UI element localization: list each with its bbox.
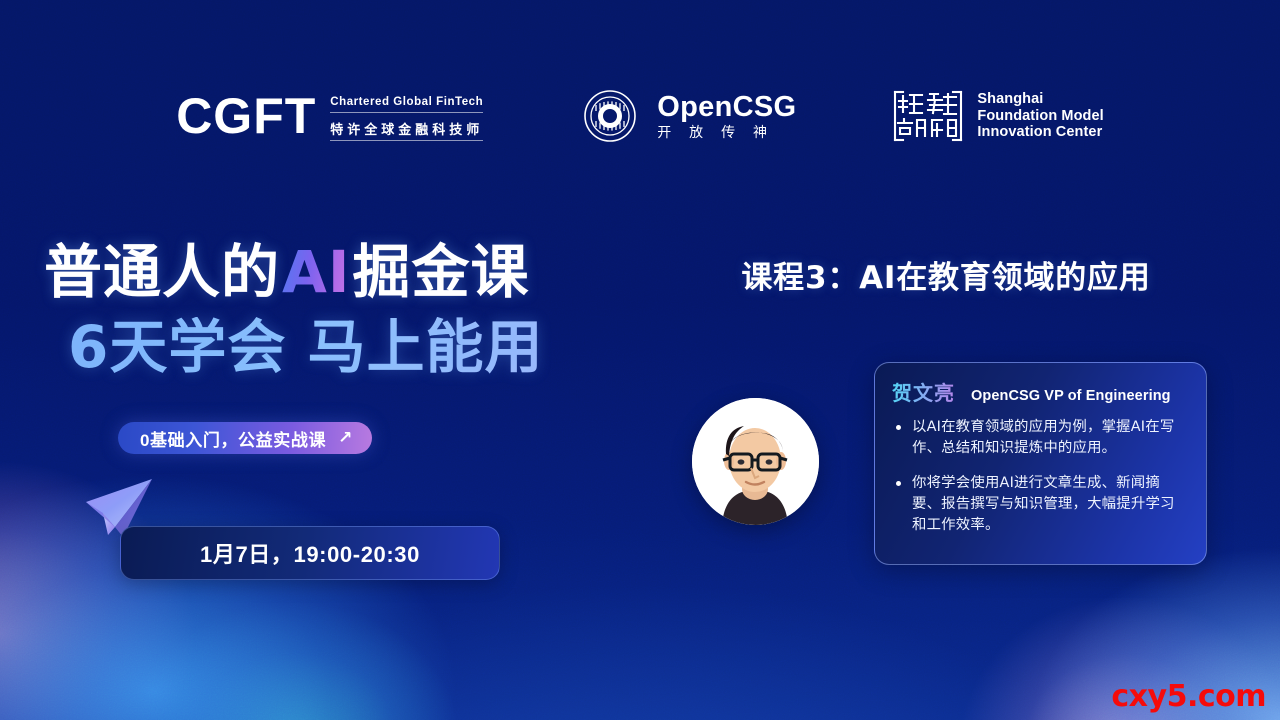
date-time-box: 1月7日，19:00-20:30 <box>120 526 500 580</box>
course-title: 课程3：AI在教育领域的应用 <box>646 252 1246 297</box>
speaker-avatar <box>692 398 819 525</box>
intro-pill-badge[interactable]: 0基础入门，公益实战课 ↗ <box>118 422 372 454</box>
sfmic-line-1: Shanghai <box>977 91 1103 108</box>
intro-pill-label: 0基础入门，公益实战课 <box>140 426 326 451</box>
speaker-bullet-list: 以AI在教育领域的应用为例，掌握AI在写作、总结和知识提炼中的应用。 你将学会使… <box>892 417 1189 537</box>
speaker-role: OpenCSG VP of Engineering <box>971 388 1171 404</box>
cgft-english-tagline: Chartered Global FinTech <box>330 93 483 113</box>
headline-ai-accent: AI <box>280 238 352 306</box>
headline: 普通人的AI掘金课 6天学会 马上能用 <box>44 242 644 379</box>
poster-canvas: CGFT Chartered Global FinTech 特许全球金融科技师 <box>0 0 1280 720</box>
watermark: cxy5.com <box>1111 679 1266 714</box>
list-item: 以AI在教育领域的应用为例，掌握AI在写作、总结和知识提炼中的应用。 <box>892 417 1189 460</box>
speaker-header: 贺文亮 OpenCSG VP of Engineering <box>892 377 1189 406</box>
headline-line1-after: 掘金课 <box>352 238 529 306</box>
sfmic-line-2: Foundation Model <box>977 108 1103 125</box>
sfmic-english: Shanghai Foundation Model Innovation Cen… <box>977 91 1103 142</box>
avatar-portrait <box>692 398 819 525</box>
opencsg-name: OpenCSG <box>657 93 796 122</box>
opencsg-text: OpenCSG 开 放 传 神 <box>657 93 796 139</box>
speaker-name: 贺文亮 <box>892 377 955 406</box>
sfmic-line-3: Innovation Center <box>977 124 1103 141</box>
cgft-chinese-tagline: 特许全球金融科技师 <box>330 115 483 141</box>
opencsg-eye-icon <box>579 85 641 147</box>
cgft-taglines: Chartered Global FinTech 特许全球金融科技师 <box>330 91 483 141</box>
headline-line-2: 6天学会 马上能用 <box>44 317 644 378</box>
logo-opencsg: OpenCSG 开 放 传 神 <box>579 85 796 147</box>
logo-bar: CGFT Chartered Global FinTech 特许全球金融科技师 <box>0 78 1280 154</box>
opencsg-chinese: 开 放 传 神 <box>657 125 796 139</box>
sfmic-logo-icon <box>892 88 964 144</box>
list-item: 你将学会使用AI进行文章生成、新闻摘要、报告撰写与知识管理，大幅提升学习和工作效… <box>892 473 1189 537</box>
date-time-text: 1月7日，19:00-20:30 <box>200 537 420 569</box>
logo-sfmic: Shanghai Foundation Model Innovation Cen… <box>892 88 1103 144</box>
headline-line-1: 普通人的AI掘金课 <box>44 242 644 303</box>
speaker-info-card: 贺文亮 OpenCSG VP of Engineering 以AI在教育领域的应… <box>874 362 1207 565</box>
headline-line1-before: 普通人的 <box>44 238 280 306</box>
cgft-wordmark: CGFT <box>176 91 316 141</box>
arrow-up-right-icon: ↗ <box>338 429 352 446</box>
logo-cgft: CGFT Chartered Global FinTech 特许全球金融科技师 <box>176 91 483 141</box>
